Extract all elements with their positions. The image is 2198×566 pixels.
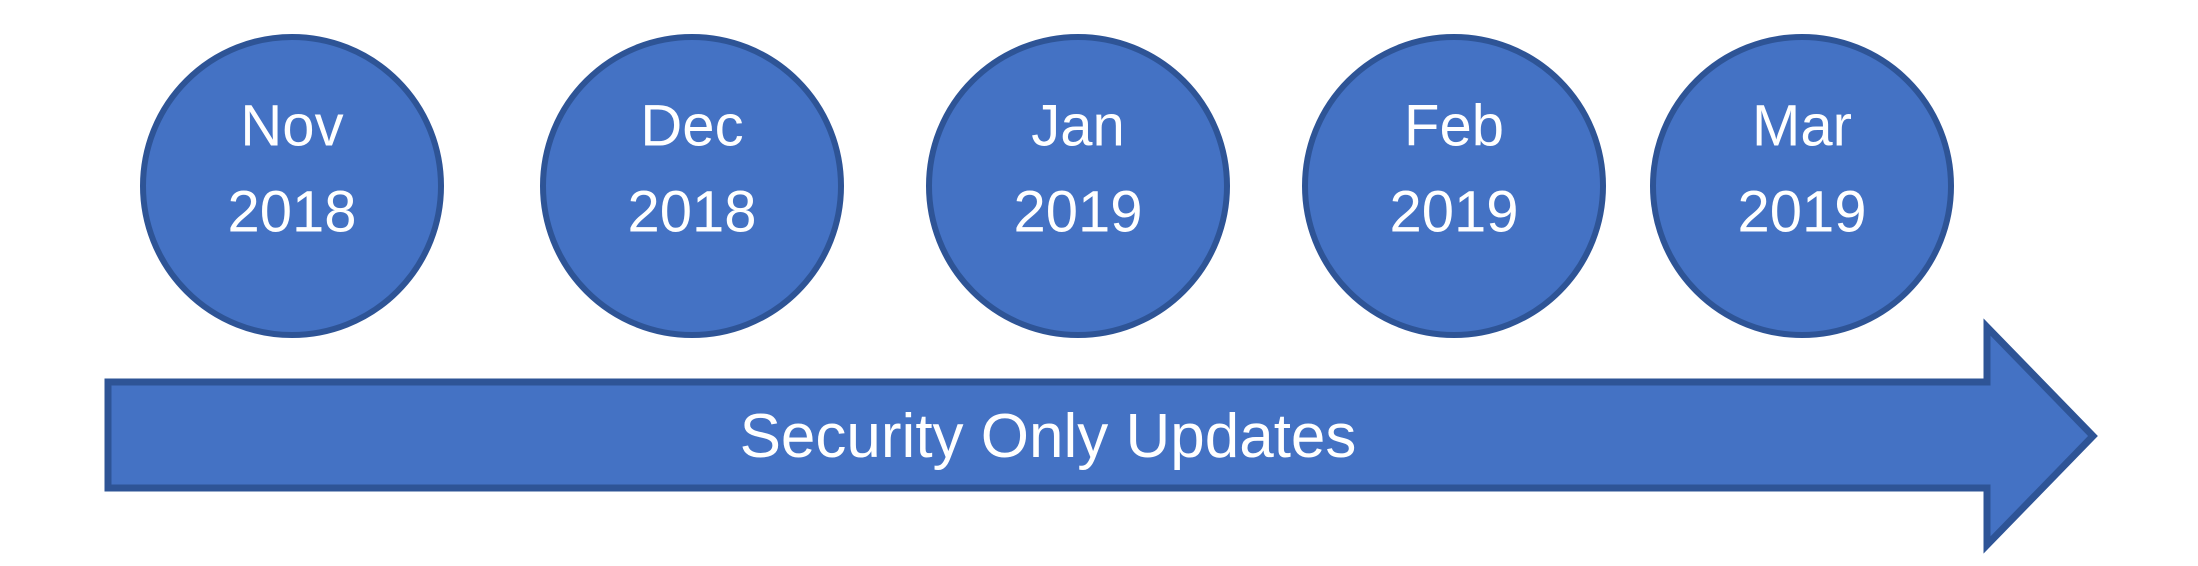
milestone-group-feb-2019[interactable]: Feb 2019 (1305, 37, 1603, 335)
milestone-group-nov-2018[interactable]: Nov 2018 (143, 37, 441, 335)
milestone-month-label: Jan (1031, 93, 1125, 158)
milestone-group-jan-2019[interactable]: Jan 2019 (929, 37, 1227, 335)
timeline-diagram-canvas: Nov 2018 Dec 2018 Jan 2019 Feb 2019 Mar … (0, 0, 2198, 566)
milestone-month-label: Nov (240, 93, 343, 158)
arrow-label: Security Only Updates (740, 402, 1357, 471)
milestone-year-label: 2018 (627, 179, 756, 244)
milestone-month-label: Mar (1752, 93, 1852, 158)
milestone-year-label: 2019 (1737, 179, 1866, 244)
milestone-month-label: Dec (640, 93, 743, 158)
milestone-year-label: 2019 (1389, 179, 1518, 244)
milestone-year-label: 2019 (1013, 179, 1142, 244)
milestone-month-label: Feb (1404, 93, 1504, 158)
timeline-diagram: Nov 2018 Dec 2018 Jan 2019 Feb 2019 Mar … (0, 0, 2198, 566)
milestone-group-dec-2018[interactable]: Dec 2018 (543, 37, 841, 335)
security-only-updates-arrow[interactable]: Security Only Updates (108, 327, 2093, 545)
milestone-group-mar-2019[interactable]: Mar 2019 (1653, 37, 1951, 335)
milestone-year-label: 2018 (227, 179, 356, 244)
